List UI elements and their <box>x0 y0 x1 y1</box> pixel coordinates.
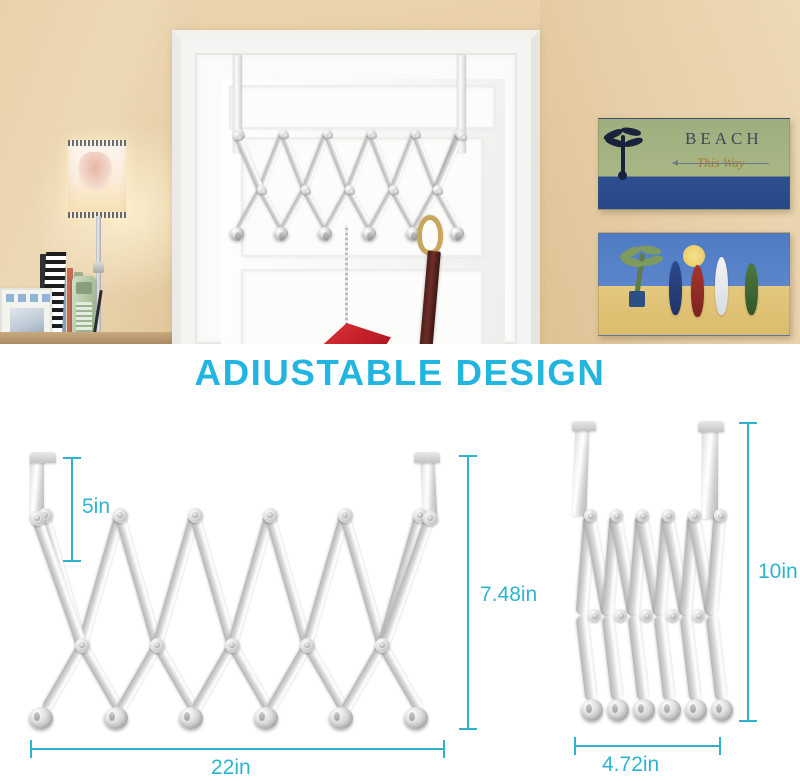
bracket-left <box>572 424 589 516</box>
wall-art-surfboards <box>598 232 790 336</box>
page-title: ADIUSTABLE DESIGN <box>0 352 800 394</box>
mid-rivet <box>75 638 90 653</box>
lattice-arm <box>190 513 238 646</box>
lamp-shade-art <box>78 152 112 190</box>
mid-rivet <box>375 638 390 653</box>
top-rivet <box>636 509 649 522</box>
lattice-arm <box>706 614 729 701</box>
door-mounted-rack <box>181 39 549 344</box>
wall-art-beach-sign: BEACH This Way <box>598 118 790 210</box>
left-arrow-icon <box>673 163 769 164</box>
dimline-4-72in <box>574 745 721 747</box>
lamp-knob <box>93 262 104 273</box>
bracket-left-cap <box>30 452 56 463</box>
door-mid-rivet <box>433 185 442 194</box>
top-rivet <box>688 509 701 522</box>
dimlabel-10in: 10in <box>758 560 798 584</box>
top-rivet <box>263 508 278 523</box>
lattice-arm <box>680 614 703 701</box>
rack-hook[interactable] <box>29 707 53 729</box>
lattice-arm <box>227 513 275 646</box>
rack-hook[interactable] <box>179 707 203 729</box>
dimline-5in <box>71 457 73 562</box>
phone-keypad <box>76 302 92 332</box>
sun-icon <box>683 245 705 267</box>
door-top-rivet <box>367 129 376 138</box>
rack-hook[interactable] <box>329 707 353 729</box>
lattice-arm <box>576 614 599 701</box>
mid-rivet <box>150 638 165 653</box>
lattice-arm <box>77 513 125 646</box>
top-rivet <box>714 509 727 522</box>
mid-rivet <box>300 638 315 653</box>
lattice-arm <box>152 513 200 646</box>
door-top-rivet <box>279 129 288 138</box>
door-mid-rivet <box>389 185 398 194</box>
lattice-arm <box>654 614 677 701</box>
door-rack-hook[interactable] <box>318 227 332 240</box>
lattice-arm <box>115 513 163 646</box>
door-rack-hook[interactable] <box>230 227 244 240</box>
bracket-right-cap <box>698 421 724 432</box>
wall-art-heading: BEACH <box>685 129 763 149</box>
page-root: BEACH This Way ADIUSTABLE DESIGN 5in 7.4… <box>0 0 800 781</box>
lattice-arm <box>265 513 313 646</box>
door-rack-hook[interactable] <box>362 227 376 240</box>
mid-rivet <box>692 609 705 622</box>
door-rack-hook[interactable] <box>274 227 288 240</box>
door-end-rivet-left <box>233 131 242 140</box>
top-rivet <box>113 508 128 523</box>
phone-screen <box>76 282 92 294</box>
mid-rivet <box>666 609 679 622</box>
mid-rivet <box>225 638 240 653</box>
dimlabel-22in: 22in <box>211 756 251 780</box>
mid-rivet <box>640 609 653 622</box>
rack-hook[interactable] <box>711 699 733 721</box>
lattice-arm <box>340 513 388 646</box>
end-rivet-right <box>423 511 438 526</box>
lattice-arm <box>628 614 651 701</box>
door-mid-rivet <box>345 185 354 194</box>
dimline-22in <box>30 748 445 750</box>
lattice-arm <box>706 514 727 615</box>
purse-chain <box>345 225 348 329</box>
door-mid-rivet <box>257 185 266 194</box>
bracket-left-cap <box>572 421 596 431</box>
door-lattice-end-arm <box>434 134 464 191</box>
top-rivet <box>188 508 203 523</box>
mid-rivet <box>588 609 601 622</box>
end-rivet-left <box>30 511 45 526</box>
dimlabel-5in: 5in <box>82 495 110 519</box>
rack-hook[interactable] <box>607 699 629 721</box>
rack-hook[interactable] <box>685 699 707 721</box>
beach-chair-icon <box>629 291 645 307</box>
rack-hook[interactable] <box>581 699 603 721</box>
dimlabel-7-48in: 7.48in <box>480 583 537 607</box>
rack-hook[interactable] <box>254 707 278 729</box>
gold-ring-icon <box>417 215 443 255</box>
door-mid-rivet <box>301 185 310 194</box>
lamp-shade-icon <box>68 140 126 218</box>
lattice-arm <box>602 614 625 701</box>
rack-hook[interactable] <box>404 707 428 729</box>
lattice-arm <box>378 642 425 712</box>
top-rivet <box>662 509 675 522</box>
desk-surface <box>0 332 180 344</box>
door-frame <box>172 30 540 344</box>
rack-hook[interactable] <box>659 699 681 721</box>
top-rivet <box>610 509 623 522</box>
lattice-end-arm <box>32 516 87 647</box>
bracket-right-cap <box>414 452 440 463</box>
door-top-rivet <box>323 129 332 138</box>
lattice-arm <box>302 513 350 646</box>
mid-rivet <box>614 609 627 622</box>
lifestyle-photo: BEACH This Way <box>0 0 800 344</box>
dimline-10in <box>747 422 749 722</box>
rack-hook[interactable] <box>104 707 128 729</box>
door-end-rivet-right <box>457 131 466 140</box>
top-rivet <box>584 509 597 522</box>
door-rack-hook[interactable] <box>450 227 464 240</box>
dimline-7-48in <box>467 455 469 730</box>
door-top-rivet <box>411 129 420 138</box>
bracket-right <box>702 424 718 519</box>
rack-hook[interactable] <box>633 699 655 721</box>
product-diagram-area: 5in 7.48in 22in 10in 4.72in <box>0 400 800 781</box>
door-lattice-end-arm <box>234 134 264 191</box>
dimlabel-4-72in: 4.72in <box>602 753 659 777</box>
top-rivet <box>338 508 353 523</box>
cordless-phone <box>72 276 96 338</box>
